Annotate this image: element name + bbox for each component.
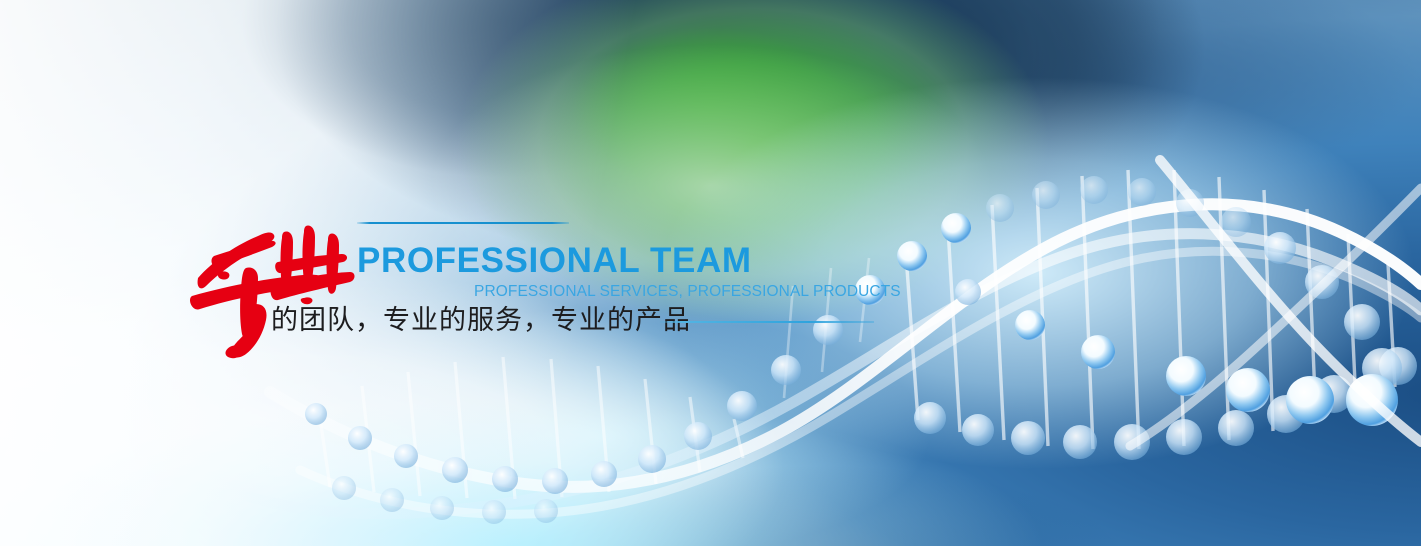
banner-copy-block: PROFESSIONAL TEAM PROFESSIONAL SERVICES,… <box>0 0 1421 546</box>
page-subtitle: PROFESSIONAL SERVICES, PROFESSIONAL PROD… <box>474 284 901 300</box>
page-title-chinese: 的团队，专业的服务，专业的产品 <box>271 305 691 336</box>
chinese-brush-calligraphy-icon <box>186 210 356 360</box>
divider-line-bottom <box>660 321 874 323</box>
hero-banner: PROFESSIONAL TEAM PROFESSIONAL SERVICES,… <box>0 0 1421 546</box>
page-title: PROFESSIONAL TEAM <box>357 243 752 278</box>
divider-line-top <box>357 222 569 224</box>
